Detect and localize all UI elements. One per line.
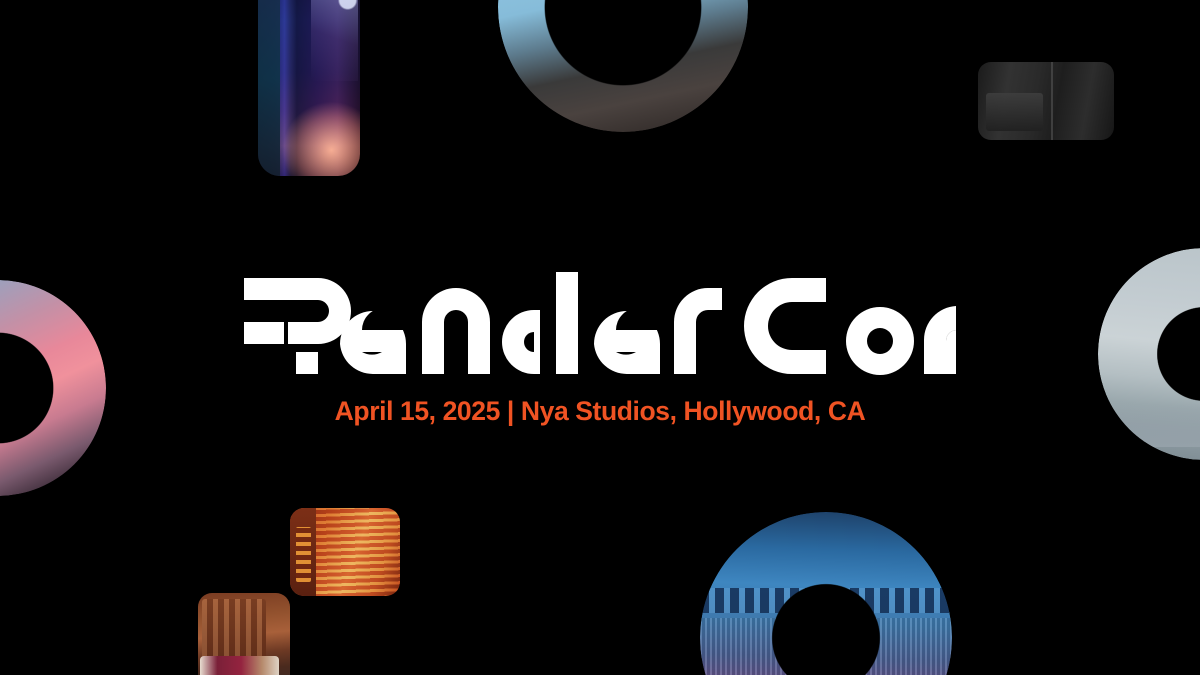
brand-lockup: RenderCon bbox=[0, 272, 1200, 427]
rendercon-wordmark-logo: RenderCon bbox=[244, 272, 956, 380]
event-tagline: April 15, 2025 | Nya Studios, Hollywood,… bbox=[335, 396, 866, 427]
decor-top-center-ring bbox=[498, 0, 748, 132]
decor-bottom-center-ring bbox=[700, 512, 952, 675]
decor-bottom-left-lower-card bbox=[198, 593, 290, 675]
decor-top-left-portrait-card bbox=[258, 0, 360, 176]
decor-top-right-card bbox=[978, 62, 1114, 140]
decor-bottom-left-upper-card bbox=[290, 508, 400, 596]
hero-slide: RenderCon bbox=[0, 0, 1200, 675]
